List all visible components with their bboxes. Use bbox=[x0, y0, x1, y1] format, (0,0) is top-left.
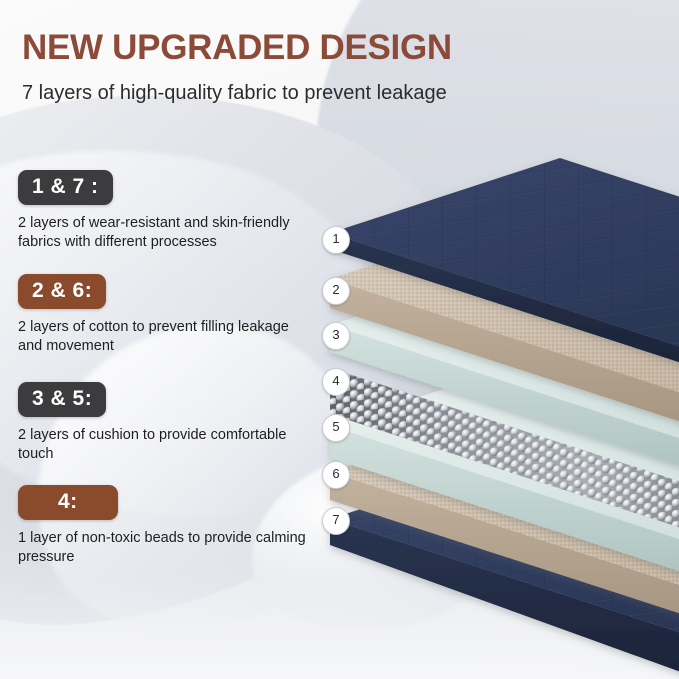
callout-badge-3-5: 3 & 5: bbox=[18, 382, 106, 417]
header: NEW UPGRADED DESIGN 7 layers of high-qua… bbox=[0, 0, 679, 106]
page-subtitle: 7 layers of high-quality fabric to preve… bbox=[22, 80, 679, 106]
layer-number-2: 2 bbox=[322, 277, 350, 305]
callout-badge-1-7: 1 & 7 : bbox=[18, 170, 113, 205]
callout-badge-4: 4: bbox=[18, 485, 118, 520]
layer-2-beige-cotton-upper bbox=[330, 204, 679, 428]
layer-number-7: 7 bbox=[322, 507, 350, 535]
callout-description-2-6: 2 layers of cotton to prevent filling le… bbox=[18, 318, 308, 356]
callout-badge-2-6: 2 & 6: bbox=[18, 274, 106, 309]
page-title: NEW UPGRADED DESIGN bbox=[22, 28, 679, 68]
callout-layer-4: 4: 1 layer of non-toxic beads to provide… bbox=[18, 485, 308, 567]
callout-layers-2-and-6: 2 & 6: 2 layers of cotton to prevent fil… bbox=[18, 274, 308, 356]
callout-description-1-7: 2 layers of wear-resistant and skin-frie… bbox=[18, 214, 308, 252]
callout-layers-3-and-5: 3 & 5: 2 layers of cushion to provide co… bbox=[18, 382, 308, 464]
layer-6-beige-cotton-lower bbox=[330, 397, 679, 620]
callout-description-4: 1 layer of non-toxic beads to provide ca… bbox=[18, 529, 308, 567]
callout-description-3-5: 2 layers of cushion to provide comfortab… bbox=[18, 426, 308, 464]
layer-number-4: 4 bbox=[322, 368, 350, 396]
layer-number-5: 5 bbox=[322, 414, 350, 442]
layer-1-navy-quilted-fabric-top bbox=[330, 158, 679, 369]
callout-layers-1-and-7: 1 & 7 : 2 layers of wear-resistant and s… bbox=[18, 170, 308, 252]
layer-number-1: 1 bbox=[322, 226, 350, 254]
product-infographic: 1 2 3 4 5 6 7 NEW UPGRADED DESIGN 7 laye… bbox=[0, 0, 679, 679]
layer-7-navy-quilted-fabric-bottom bbox=[330, 444, 679, 679]
layer-5-mint-cushion-lower bbox=[330, 351, 679, 578]
layer-4-glass-bead-filling bbox=[330, 368, 679, 534]
layer-3-mint-cushion-upper bbox=[330, 250, 679, 472]
layer-number-6: 6 bbox=[322, 461, 350, 489]
layer-number-3: 3 bbox=[322, 322, 350, 350]
